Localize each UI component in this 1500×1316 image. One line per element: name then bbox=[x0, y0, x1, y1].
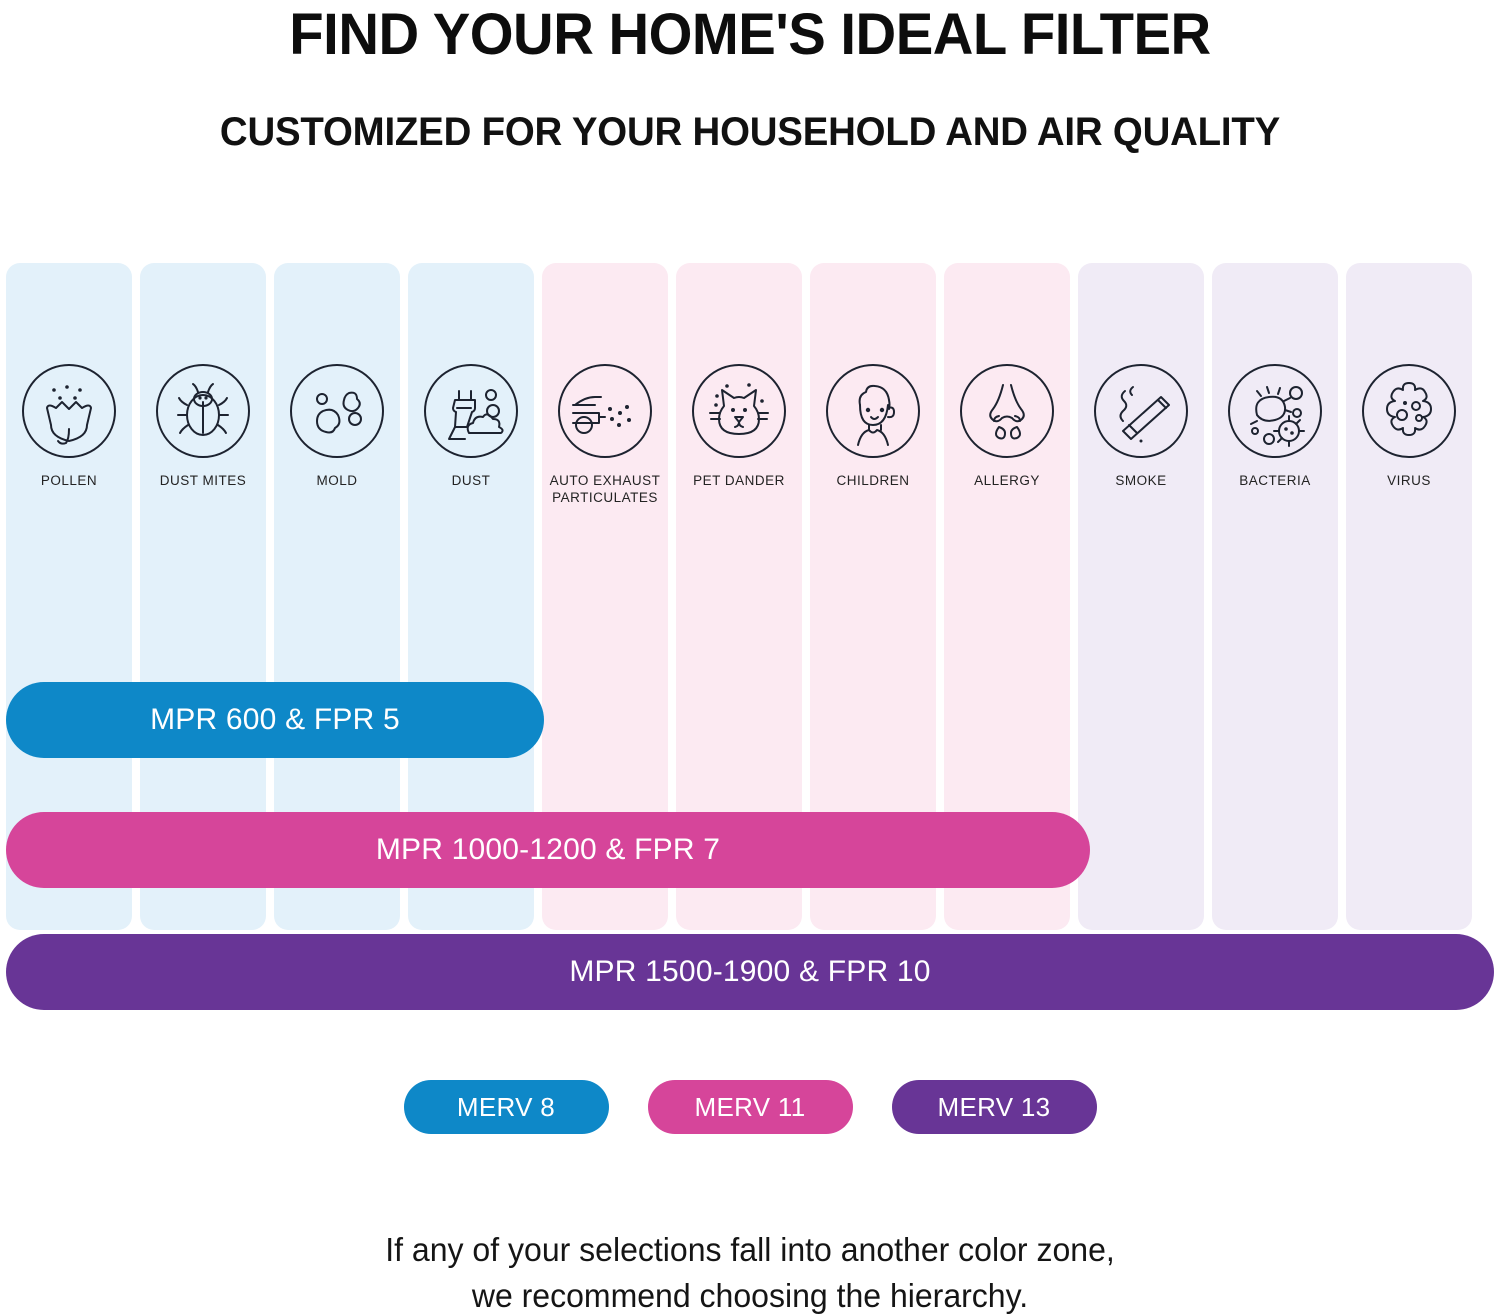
page-subtitle: CUSTOMIZED FOR YOUR HOUSEHOLD AND AIR QU… bbox=[30, 112, 1470, 152]
rating-bar-label: MPR 1500-1900 & FPR 10 bbox=[569, 955, 930, 989]
pollen-flower-icon bbox=[21, 363, 117, 459]
dust-mite-bug-icon bbox=[155, 363, 251, 459]
rating-bar-merv11[interactable]: MPR 1000-1200 & FPR 7 bbox=[6, 812, 1090, 888]
pet-dander-cat-icon bbox=[691, 363, 787, 459]
dust-broom-icon bbox=[423, 363, 519, 459]
footer-note: If any of your selections fall into anot… bbox=[23, 1228, 1478, 1316]
mold-spores-icon bbox=[289, 363, 385, 459]
legend-badge-label: MERV 11 bbox=[695, 1092, 806, 1123]
contaminant-label: BACTERIA bbox=[1212, 473, 1338, 490]
footer-line-1: If any of your selections fall into anot… bbox=[23, 1228, 1478, 1272]
smoke-cigarette-icon bbox=[1093, 363, 1189, 459]
contaminant-label: MOLD bbox=[274, 473, 400, 490]
merv-legend: MERV 8 MERV 11 MERV 13 bbox=[0, 1080, 1500, 1134]
contaminant-column-virus[interactable]: VIRUS bbox=[1346, 263, 1472, 930]
contaminant-label: VIRUS bbox=[1346, 473, 1472, 490]
contaminant-column-bacteria[interactable]: BACTERIA bbox=[1212, 263, 1338, 930]
contaminant-label: ALLERGY bbox=[944, 473, 1070, 490]
contaminant-column-smoke[interactable]: SMOKE bbox=[1078, 263, 1204, 930]
children-child-icon bbox=[825, 363, 921, 459]
legend-badge-label: MERV 8 bbox=[457, 1092, 555, 1123]
footer-line-2: we recommend choosing the hierarchy. bbox=[23, 1274, 1478, 1316]
contaminant-label: DUST MITES bbox=[140, 473, 266, 490]
rating-bar-label: MPR 1000-1200 & FPR 7 bbox=[376, 833, 720, 867]
contaminant-label: SMOKE bbox=[1078, 473, 1204, 490]
legend-badge-merv8[interactable]: MERV 8 bbox=[404, 1080, 609, 1134]
contaminant-label: POLLEN bbox=[6, 473, 132, 490]
contaminant-label: PET DANDER bbox=[676, 473, 802, 490]
contaminant-label: CHILDREN bbox=[810, 473, 936, 490]
legend-badge-merv13[interactable]: MERV 13 bbox=[892, 1080, 1097, 1134]
page-title: FIND YOUR HOME'S IDEAL FILTER bbox=[23, 6, 1478, 64]
auto-exhaust-car-icon bbox=[557, 363, 653, 459]
virus-icon bbox=[1361, 363, 1457, 459]
legend-badge-merv11[interactable]: MERV 11 bbox=[648, 1080, 853, 1134]
infographic-page: FIND YOUR HOME'S IDEAL FILTER CUSTOMIZED… bbox=[0, 0, 1500, 1316]
rating-bar-merv8[interactable]: MPR 600 & FPR 5 bbox=[6, 682, 544, 758]
bacteria-microbe-icon bbox=[1227, 363, 1323, 459]
contaminant-label: AUTO EXHAUST PARTICULATES bbox=[542, 473, 668, 507]
legend-badge-label: MERV 13 bbox=[938, 1092, 1051, 1123]
rating-bar-label: MPR 600 & FPR 5 bbox=[150, 703, 400, 737]
allergy-nose-icon bbox=[959, 363, 1055, 459]
rating-bar-merv13[interactable]: MPR 1500-1900 & FPR 10 bbox=[6, 934, 1494, 1010]
contaminant-label: DUST bbox=[408, 473, 534, 490]
